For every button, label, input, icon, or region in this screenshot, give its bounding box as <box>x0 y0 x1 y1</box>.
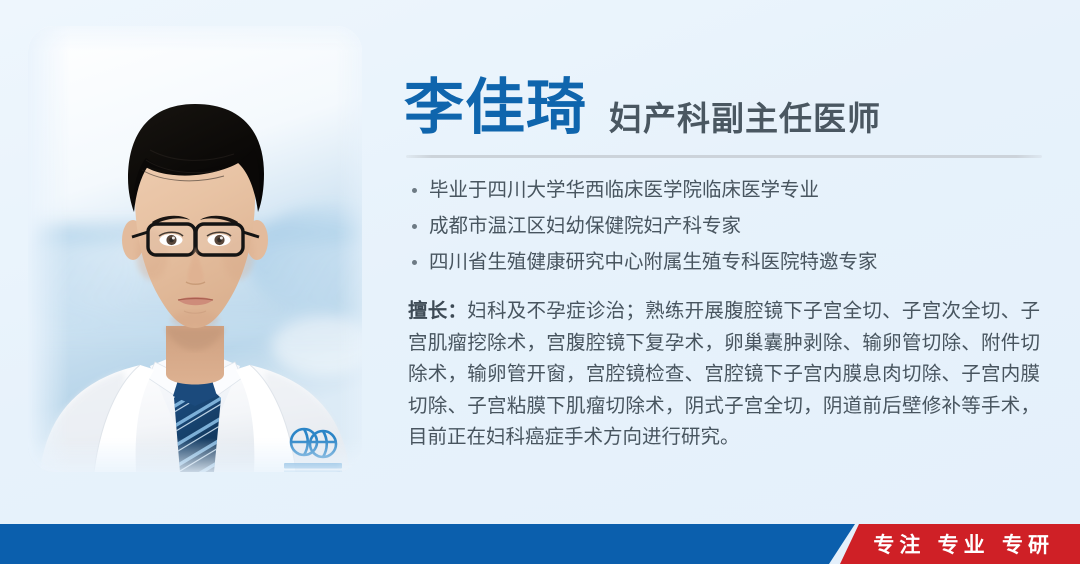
bullet-icon <box>412 224 417 229</box>
list-item: 毕业于四川大学华西临床医学院临床医学专业 <box>408 172 1048 208</box>
credential-text: 四川省生殖健康研究中心附属生殖专科医院特邀专家 <box>429 251 878 273</box>
credential-text: 毕业于四川大学华西临床医学院临床医学专业 <box>429 179 819 201</box>
credentials-list: 毕业于四川大学华西临床医学院临床医学专业 成都市温江区妇幼保健院妇产科专家 四川… <box>400 172 1048 280</box>
list-item: 四川省生殖健康研究中心附属生殖专科医院特邀专家 <box>408 244 1048 280</box>
list-item: 成都市温江区妇幼保健院妇产科专家 <box>408 208 1048 244</box>
banner-slogan: 专注 专业 专研 <box>873 524 1054 564</box>
specialty-text: 妇科及不孕症诊治；熟练开展腹腔镜下子宫全切、子宫次全切、子宫肌瘤挖除术，宫腹腔镜… <box>408 300 1040 448</box>
headline: 李佳琦 妇产科副主任医师 <box>400 26 1048 138</box>
doctor-portrait-illustration <box>28 26 362 472</box>
bottom-banner: 专注 专业 专研 <box>0 524 1080 564</box>
doctor-photo <box>28 26 362 472</box>
bullet-icon <box>412 188 417 193</box>
doctor-name: 李佳琦 <box>404 78 587 138</box>
banner-blue-shape <box>0 524 855 564</box>
doctor-title: 妇产科副主任医师 <box>609 102 881 138</box>
specialty-paragraph: 擅长：妇科及不孕症诊治；熟练开展腹腔镜下子宫全切、子宫次全切、子宫肌瘤挖除术，宫… <box>400 296 1048 454</box>
bullet-icon <box>412 260 417 265</box>
specialty-label: 擅长： <box>408 300 467 322</box>
doctor-info: 李佳琦 妇产科副主任医师 毕业于四川大学华西临床医学院临床医学专业 成都市温江区… <box>400 26 1048 486</box>
doctor-profile-card: 李佳琦 妇产科副主任医师 毕业于四川大学华西临床医学院临床医学专业 成都市温江区… <box>0 0 1080 564</box>
coat-logo <box>284 429 342 472</box>
divider <box>406 155 1042 158</box>
credential-text: 成都市温江区妇幼保健院妇产科专家 <box>429 215 741 237</box>
